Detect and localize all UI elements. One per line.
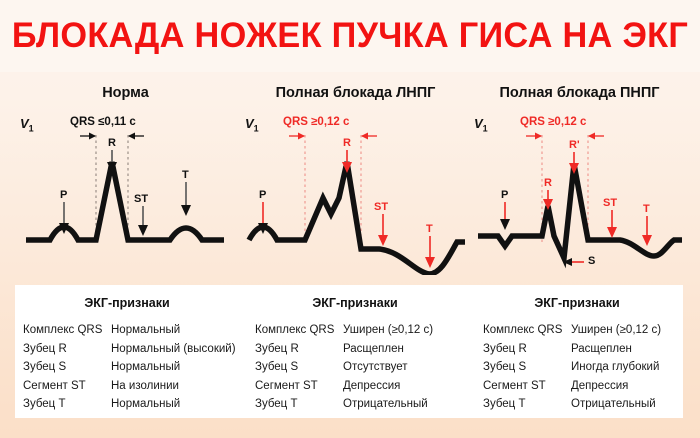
table-row: Сегмент ST Депрессия <box>255 377 471 396</box>
lead-label-rbbb: V1 <box>474 116 488 134</box>
row-key: Комплекс QRS <box>483 324 571 336</box>
table-row: Сегмент ST На изолинии <box>23 377 239 396</box>
wave-label-t-normal: T <box>182 169 189 181</box>
row-value: Отсутствует <box>343 361 408 373</box>
table-row: Сегмент ST Депрессия <box>483 377 683 396</box>
row-value: На изолинии <box>111 380 179 392</box>
row-value: Уширен (≥0,12 с) <box>571 324 661 336</box>
table-row: Зубец R Расщеплен <box>255 340 471 359</box>
table-row: Зубец T Отрицательный <box>255 395 471 414</box>
ecg-panel-normal: V1 QRS ≤0,11 c P R ST T <box>18 110 233 275</box>
wave-label-p-normal: P <box>60 189 67 201</box>
column-header-normal: Норма <box>18 85 233 101</box>
wave-label-st-rbbb: ST <box>603 197 617 209</box>
wave-label-t-lbbb: T <box>426 223 433 235</box>
row-value: Отрицательный <box>343 398 428 410</box>
lead-label-normal: V1 <box>20 116 34 134</box>
column-header-lbbb: Полная блокада ЛНПГ <box>243 85 468 101</box>
qrs-duration-lbbb: QRS ≥0,12 c <box>283 116 349 128</box>
ecg-panel-rbbb: V1 QRS ≥0,12 c P R R' S ST T <box>472 110 687 275</box>
page-title: БЛОКАДА НОЖЕК ПУЧКА ГИСА НА ЭКГ <box>12 16 688 56</box>
lead-label-lbbb: V1 <box>245 116 259 134</box>
wave-label-r-normal: R <box>108 137 116 149</box>
wave-label-r-rbbb: R <box>544 177 552 189</box>
table-row: Комплекс QRS Уширен (≥0,12 с) <box>255 321 471 340</box>
row-key: Зубец T <box>23 398 111 410</box>
table-row: Зубец R Расщеплен <box>483 340 683 359</box>
row-key: Комплекс QRS <box>23 324 111 336</box>
wave-label-rprime-rbbb: R' <box>569 139 580 151</box>
row-value: Уширен (≥0,12 с) <box>343 324 433 336</box>
table-row: Зубец S Отсутствует <box>255 358 471 377</box>
ecg-signs-table-normal: ЭКГ-признаки Комплекс QRS Нормальный Зуб… <box>15 285 239 418</box>
row-key: Зубец R <box>23 343 111 355</box>
table-row: Зубец T Отрицательный <box>483 395 683 414</box>
ecg-signs-table-rbbb: ЭКГ-признаки Комплекс QRS Уширен (≥0,12 … <box>471 285 683 418</box>
row-value: Расщеплен <box>343 343 404 355</box>
ecg-signs-table-lbbb: ЭКГ-признаки Комплекс QRS Уширен (≥0,12 … <box>239 285 471 418</box>
row-key: Зубец T <box>255 398 343 410</box>
infographic-page: БЛОКАДА НОЖЕК ПУЧКА ГИСА НА ЭКГ Норма По… <box>0 0 700 438</box>
table-row: Зубец T Нормальный <box>23 395 239 414</box>
row-value: Нормальный <box>111 398 180 410</box>
row-value: Расщеплен <box>571 343 632 355</box>
row-key: Зубец S <box>255 361 343 373</box>
row-key: Зубец R <box>483 343 571 355</box>
title-band: БЛОКАДА НОЖЕК ПУЧКА ГИСА НА ЭКГ <box>0 0 700 72</box>
qrs-duration-normal: QRS ≤0,11 c <box>70 116 136 128</box>
row-key: Сегмент ST <box>23 380 111 392</box>
ecg-panel-lbbb: V1 QRS ≥0,12 c P R ST T <box>243 110 468 275</box>
table-title-rbbb: ЭКГ-признаки <box>471 296 683 310</box>
row-value: Нормальный (высокий) <box>111 343 236 355</box>
row-value: Нормальный <box>111 361 180 373</box>
ecg-signs-panel: ЭКГ-признаки Комплекс QRS Нормальный Зуб… <box>15 285 683 418</box>
table-title-lbbb: ЭКГ-признаки <box>239 296 471 310</box>
row-key: Сегмент ST <box>483 380 571 392</box>
wave-label-p-lbbb: P <box>259 189 266 201</box>
row-key: Комплекс QRS <box>255 324 343 336</box>
row-key: Зубец R <box>255 343 343 355</box>
row-value: Иногда глубокий <box>571 361 659 373</box>
table-row: Зубец S Иногда глубокий <box>483 358 683 377</box>
row-value: Отрицательный <box>571 398 656 410</box>
ecg-trace-lbbb <box>243 110 468 275</box>
table-row: Зубец R Нормальный (высокий) <box>23 340 239 359</box>
ecg-trace-normal <box>18 110 233 275</box>
wave-label-t-rbbb: T <box>643 203 650 215</box>
wave-label-r-lbbb: R <box>343 137 351 149</box>
wave-label-s-rbbb: S <box>588 255 595 267</box>
table-row: Зубец S Нормальный <box>23 358 239 377</box>
row-key: Зубец S <box>483 361 571 373</box>
row-key: Сегмент ST <box>255 380 343 392</box>
row-key: Зубец T <box>483 398 571 410</box>
row-value: Депрессия <box>571 380 628 392</box>
row-value: Депрессия <box>343 380 400 392</box>
wave-label-st-normal: ST <box>134 193 148 205</box>
wave-label-st-lbbb: ST <box>374 201 388 213</box>
table-title-normal: ЭКГ-признаки <box>15 296 239 310</box>
wave-label-p-rbbb: P <box>501 189 508 201</box>
column-header-rbbb: Полная блокада ПНПГ <box>472 85 687 101</box>
table-row: Комплекс QRS Уширен (≥0,12 с) <box>483 321 683 340</box>
row-value: Нормальный <box>111 324 180 336</box>
table-row: Комплекс QRS Нормальный <box>23 321 239 340</box>
row-key: Зубец S <box>23 361 111 373</box>
qrs-duration-rbbb: QRS ≥0,12 c <box>520 116 586 128</box>
